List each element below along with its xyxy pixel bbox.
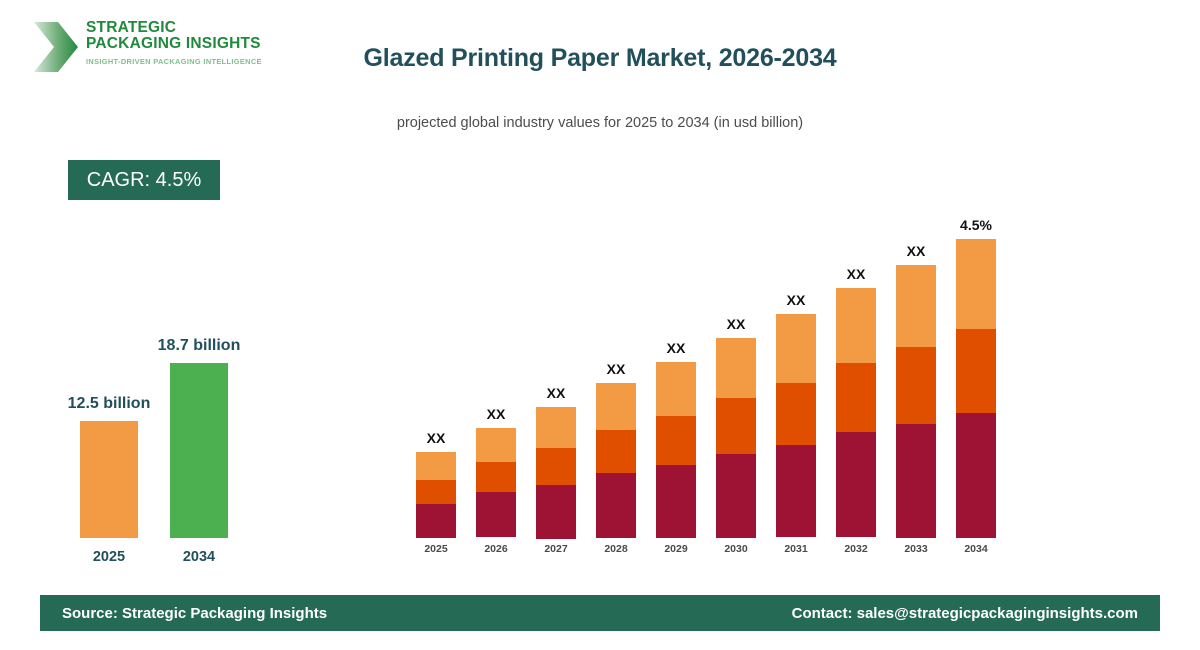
stacked-bar-segment (416, 452, 456, 480)
stacked-bar-segment (536, 485, 576, 539)
stacked-bar-segment (776, 445, 816, 537)
comparison-bar-value: 12.5 billion (49, 395, 169, 413)
stacked-bar-value-label: XX (766, 292, 826, 308)
stacked-bar-year-label: 2032 (826, 543, 886, 555)
stacked-bar-segment (956, 329, 996, 413)
stacked-bar-segment (716, 454, 756, 538)
stacked-bar-segment (836, 288, 876, 363)
stacked-bar (776, 314, 816, 538)
stacked-bar (536, 407, 576, 538)
stacked-bar (716, 338, 756, 538)
stacked-bar-year-label: 2031 (766, 543, 826, 555)
stacked-bar-value-label: 4.5% (946, 217, 1006, 233)
stacked-bar-segment (476, 428, 516, 462)
comparison-bar (80, 421, 138, 538)
stacked-bar-value-label: XX (466, 406, 526, 422)
stacked-bar-segment (476, 462, 516, 492)
stacked-bar (596, 383, 636, 538)
stacked-bar-segment (656, 416, 696, 465)
stacked-bar-year-label: 2027 (526, 543, 586, 555)
stacked-bar-segment (476, 492, 516, 537)
stacked-bar-year-label: 2028 (586, 543, 646, 555)
stacked-bar (896, 265, 936, 538)
stacked-bar-segment (776, 314, 816, 383)
footer-bar: Source: Strategic Packaging Insights Con… (40, 595, 1160, 631)
stacked-bar-value-label: XX (586, 361, 646, 377)
comparison-chart: 12.5 billion202518.7 billion2034 (0, 0, 320, 650)
stacked-bar-segment (536, 448, 576, 485)
stacked-bar-value-label: XX (646, 340, 706, 356)
stacked-bar-segment (896, 347, 936, 424)
stacked-bar-value-label: XX (886, 243, 946, 259)
stacked-bar-year-label: 2026 (466, 543, 526, 555)
stacked-bar (656, 362, 696, 538)
stacked-bar-segment (716, 338, 756, 398)
stacked-bar-segment (596, 430, 636, 473)
stacked-bar-value-label: XX (826, 266, 886, 282)
comparison-bar (170, 363, 228, 538)
stacked-bar-segment (896, 265, 936, 347)
stacked-bar-chart: XX2025XX2026XX2027XX2028XX2029XX2030XX20… (400, 0, 1040, 650)
comparison-bar-value: 18.7 billion (139, 337, 259, 355)
stacked-bar-year-label: 2030 (706, 543, 766, 555)
stacked-bar-segment (596, 473, 636, 538)
stacked-bar-value-label: XX (526, 385, 586, 401)
stacked-bar-year-label: 2033 (886, 543, 946, 555)
stacked-bar-year-label: 2029 (646, 543, 706, 555)
stacked-bar-segment (656, 362, 696, 416)
stacked-bar-segment (416, 504, 456, 538)
stacked-bar-segment (716, 398, 756, 454)
stacked-bar-segment (536, 407, 576, 448)
comparison-bar-year: 2025 (69, 549, 149, 565)
stacked-bar-value-label: XX (706, 316, 766, 332)
stacked-bar (956, 239, 996, 538)
stacked-bar-segment (956, 413, 996, 538)
footer-source-text: Source: Strategic Packaging Insights (62, 605, 327, 622)
footer-contact-text: Contact: sales@strategicpackaginginsight… (792, 605, 1138, 622)
stacked-bar (476, 428, 516, 538)
stacked-bar-segment (836, 363, 876, 432)
stacked-bar-segment (956, 239, 996, 329)
stacked-bar-segment (836, 432, 876, 537)
stacked-bar-year-label: 2034 (946, 543, 1006, 555)
stacked-bar (416, 452, 456, 538)
stacked-bar-segment (656, 465, 696, 538)
comparison-bar-year: 2034 (159, 549, 239, 565)
stacked-bar (836, 288, 876, 538)
stacked-bar-segment (596, 383, 636, 430)
stacked-bar-segment (776, 383, 816, 445)
stacked-bar-year-label: 2025 (406, 543, 466, 555)
stacked-bar-value-label: XX (406, 430, 466, 446)
stacked-bar-segment (896, 424, 936, 538)
stacked-bar-segment (416, 480, 456, 504)
